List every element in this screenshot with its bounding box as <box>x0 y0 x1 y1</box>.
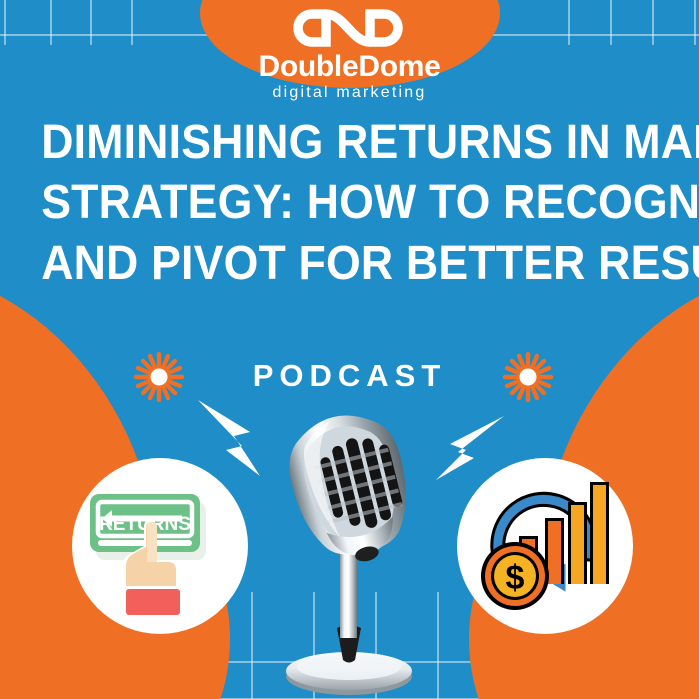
coin-dollar-symbol: $ <box>506 559 525 597</box>
starburst-icon <box>502 351 554 403</box>
title-line-2: STRATEGY: HOW TO RECOGNIZE THE SIGNS <box>41 173 658 233</box>
title-line-3: AND PIVOT FOR BETTER RESULTS <box>41 234 658 294</box>
title-line-1: DIMINISHING RETURNS IN MARKETING <box>41 113 658 173</box>
brand-logo: DoubleDome digital marketing <box>0 6 699 101</box>
podcast-cover-canvas: DoubleDome digital marketing DIMINISHING… <box>0 0 699 699</box>
roi-growth-chart-icon: $ <box>457 458 633 634</box>
returns-badge[interactable]: RETURNS <box>72 458 248 634</box>
roi-badge[interactable]: $ <box>457 458 633 634</box>
dollar-coin-icon: $ <box>481 542 549 610</box>
podcast-label: PODCAST <box>0 358 699 394</box>
brand-name: DoubleDome <box>0 51 699 83</box>
retro-microphone-icon <box>258 396 441 699</box>
brand-tagline: digital marketing <box>0 84 699 102</box>
starburst-icon <box>133 351 185 403</box>
grid-line-v <box>251 592 253 699</box>
double-dome-infinity-icon <box>292 6 408 50</box>
page-title: DIMINISHING RETURNS IN MARKETING STRATEG… <box>41 113 658 294</box>
returns-key-icon: RETURNS <box>72 458 248 634</box>
